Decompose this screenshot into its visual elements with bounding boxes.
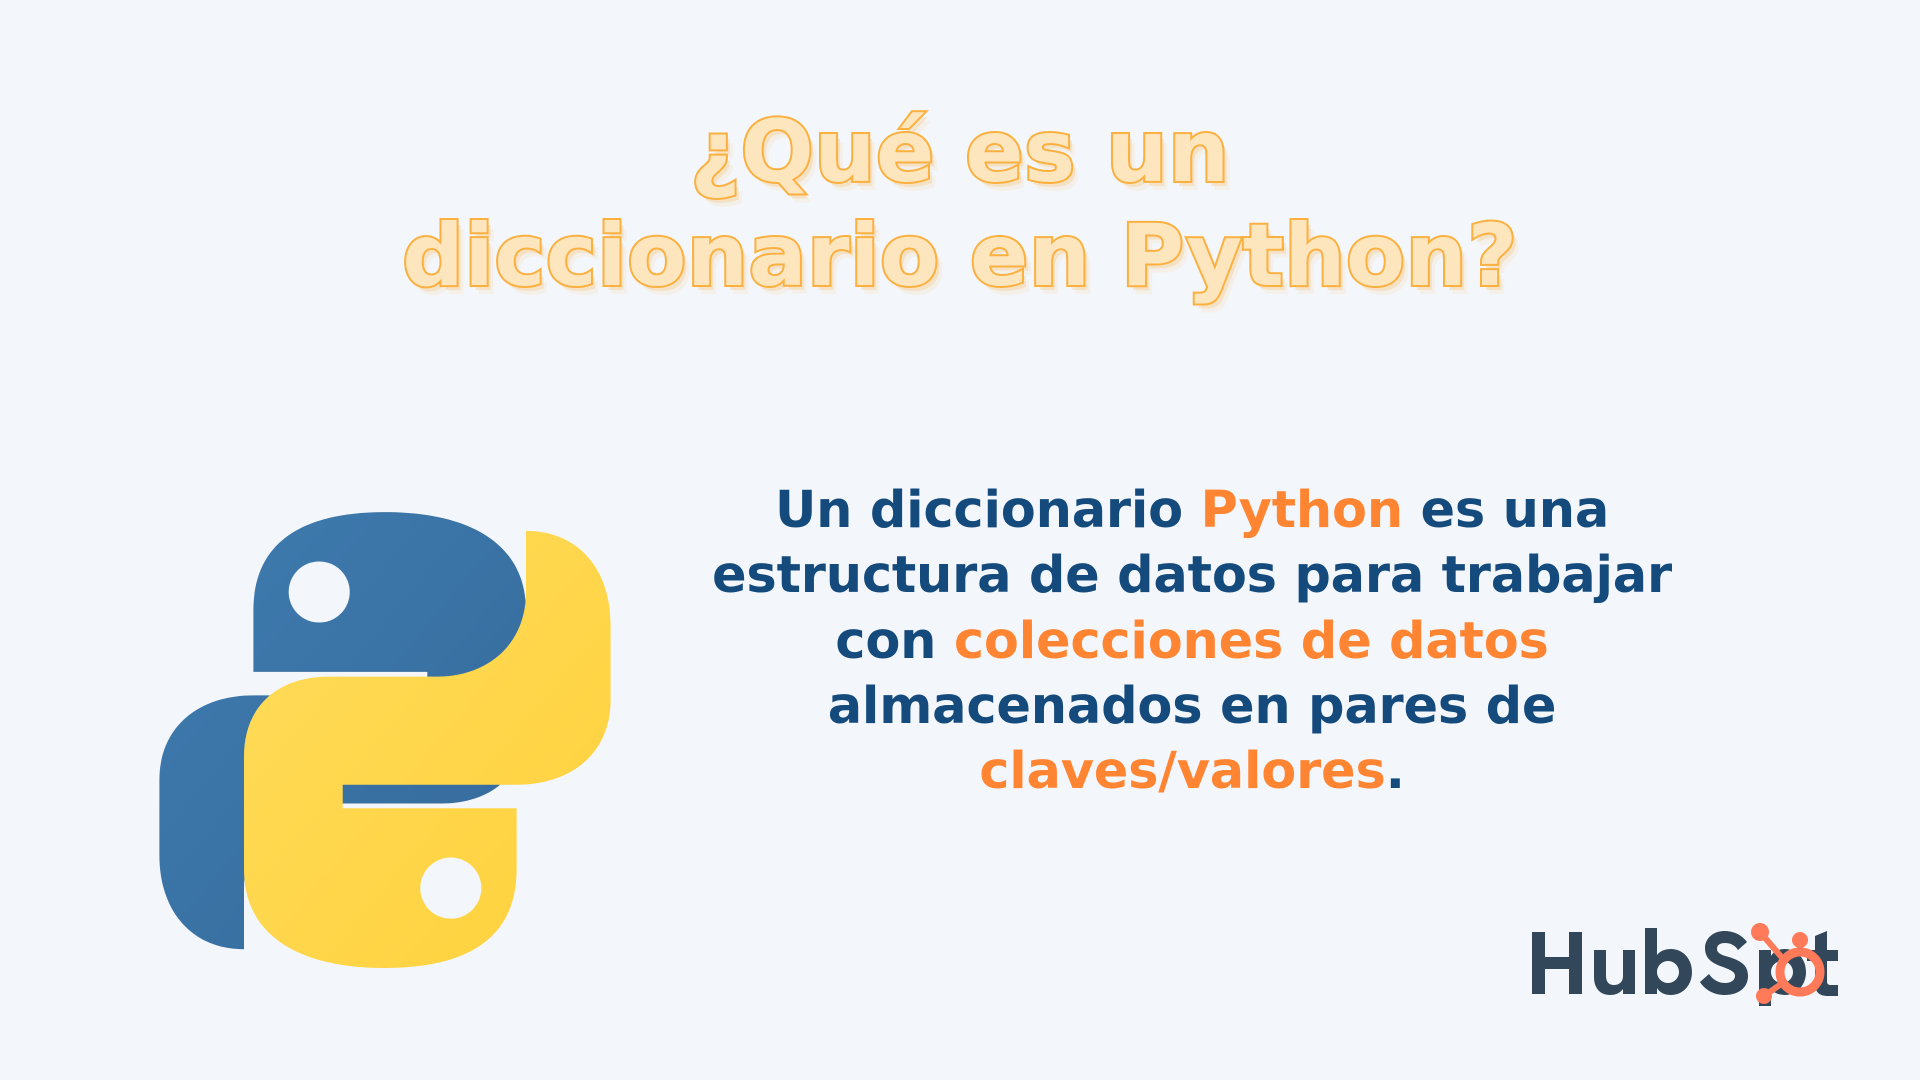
title-line-1: ¿Qué es un [0, 104, 1920, 200]
python-logo-lower-eye [420, 858, 481, 919]
slide-canvas: ¿Qué es un diccionario en Python? [0, 0, 1920, 1080]
python-logo-icon [150, 498, 620, 968]
page-title: ¿Qué es un diccionario en Python? [0, 104, 1920, 305]
python-logo-upper-eye [289, 561, 350, 622]
body-segment-plain-1: Un diccionario [775, 481, 1201, 540]
body-segment-period: . [1386, 742, 1405, 801]
body-segment-highlight-python: Python [1201, 481, 1403, 540]
hubspot-logo-icon [1528, 922, 1840, 1006]
title-line-2: diccionario en Python? [0, 208, 1920, 304]
body-segment-highlight-claves-valores: claves/valores [979, 742, 1385, 801]
hubspot-logo [1528, 922, 1840, 1006]
body-segment-plain-3: almacenados en pares de [828, 677, 1557, 736]
body-segment-highlight-colecciones: colecciones de datos [954, 612, 1549, 671]
body-paragraph: Un diccionario Python es una estructura … [672, 478, 1712, 804]
python-logo [150, 498, 620, 968]
